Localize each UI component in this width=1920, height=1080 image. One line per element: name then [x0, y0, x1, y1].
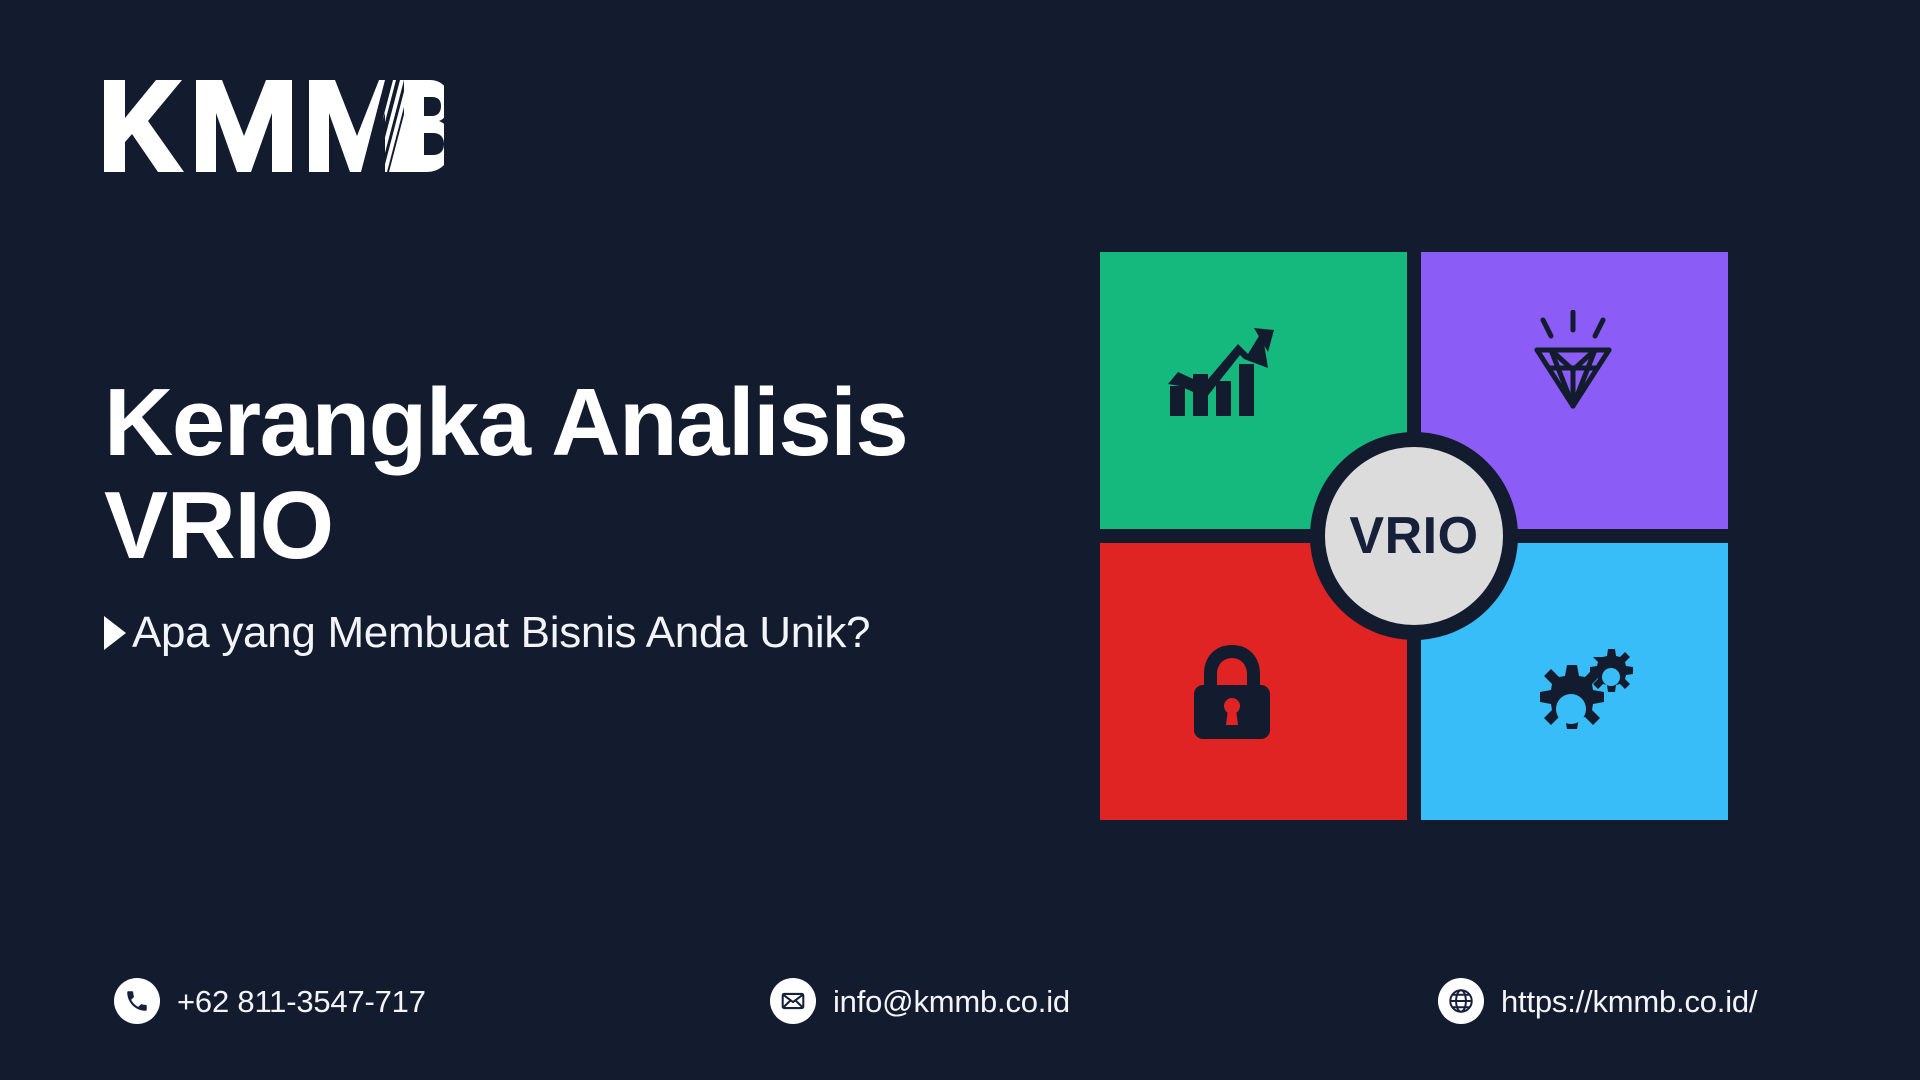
globe-icon	[1438, 978, 1484, 1024]
footer-contact-bar: +62 811-3547-717 info@kmmb.co.id	[0, 978, 1920, 1048]
vrio-matrix: VRIO	[1100, 252, 1728, 820]
triangle-right-icon	[104, 616, 126, 650]
contact-email-text: info@kmmb.co.id	[833, 986, 1070, 1017]
contact-phone-text: +62 811-3547-717	[177, 986, 426, 1017]
lock-icon	[1190, 645, 1274, 739]
phone-icon	[114, 978, 160, 1024]
diamond-icon	[1521, 310, 1625, 414]
contact-website[interactable]: https://kmmb.co.id/	[1438, 978, 1757, 1024]
contact-website-text: https://kmmb.co.id/	[1501, 986, 1757, 1017]
page-title: Kerangka Analisis VRIO	[104, 372, 1054, 577]
kmmb-logo-icon	[104, 80, 444, 172]
subtitle-row: Apa yang Membuat Bisnis Anda Unik?	[104, 611, 1054, 655]
vrio-center-label: VRIO	[1349, 510, 1478, 562]
vrio-center-badge: VRIO	[1310, 432, 1518, 640]
contact-email[interactable]: info@kmmb.co.id	[770, 978, 1070, 1024]
page-subtitle: Apa yang Membuat Bisnis Anda Unik?	[132, 611, 870, 655]
growth-chart-icon	[1168, 326, 1276, 418]
contact-phone[interactable]: +62 811-3547-717	[114, 978, 426, 1024]
envelope-icon	[770, 978, 816, 1024]
headline-block: Kerangka Analisis VRIO Apa yang Membuat …	[104, 372, 1054, 655]
brand-logo	[104, 80, 444, 172]
slide-canvas: Kerangka Analisis VRIO Apa yang Membuat …	[0, 0, 1920, 1080]
gears-icon	[1525, 647, 1637, 739]
